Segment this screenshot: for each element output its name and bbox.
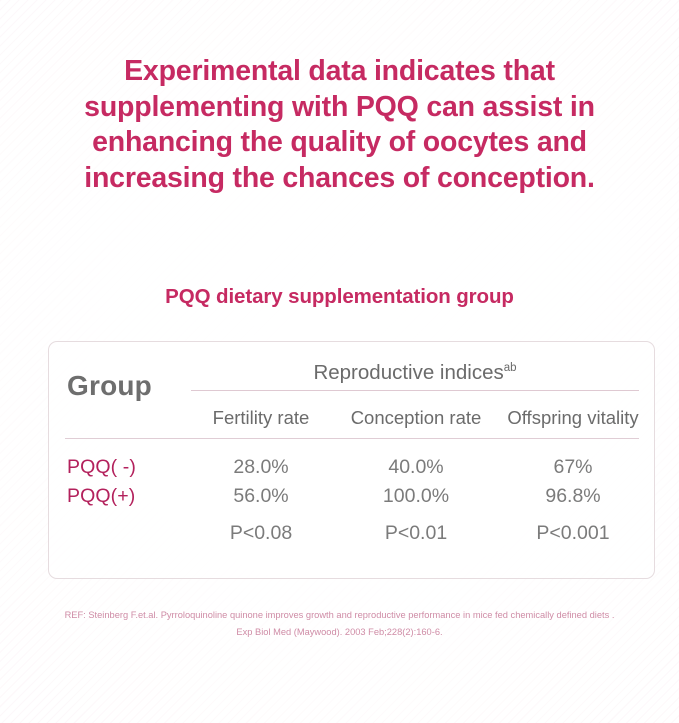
cell-pqq-minus-offspring-vitality: 67% <box>499 456 647 479</box>
spanning-header-text: Reproductive indices <box>313 361 503 384</box>
poster-page: Experimental data indicates that supplem… <box>0 0 679 723</box>
headline-line-1: Experimental data indicates that <box>26 54 653 90</box>
table-group-header: Group <box>67 370 152 402</box>
cell-pqq-minus-conception-rate: 40.0% <box>335 456 497 479</box>
spanning-header-superscript: ab <box>504 362 517 374</box>
cell-pqq-plus-fertility-rate: 56.0% <box>191 485 331 508</box>
cell-pqq-plus-conception-rate: 100.0% <box>335 485 497 508</box>
table-row: PQQ(+) 56.0% 100.0% 96.8% <box>49 485 656 514</box>
subtitle: PQQ dietary supplementation group <box>26 284 653 310</box>
column-header-conception-rate: Conception rate <box>335 407 497 429</box>
reference-line-2: Exp Biol Med (Maywood). 2003 Feb;228(2):… <box>26 624 653 641</box>
table-row-pvalues: P<0.08 P<0.01 P<0.001 <box>49 522 656 551</box>
results-table-card: Group Reproductive indicesab Fertility r… <box>48 341 655 579</box>
column-header-fertility-rate: Fertility rate <box>191 407 331 429</box>
headline-line-4: increasing the chances of conception. <box>26 161 653 197</box>
cell-pvalue-fertility-rate: P<0.08 <box>191 522 331 545</box>
table-spanning-header: Reproductive indicesab <box>191 361 639 385</box>
cell-pvalue-conception-rate: P<0.01 <box>335 522 497 545</box>
table-rule-spanning <box>191 390 639 391</box>
headline: Experimental data indicates that supplem… <box>26 54 653 196</box>
table-rule-header <box>65 438 639 439</box>
headline-line-3: enhancing the quality of oocytes and <box>26 125 653 161</box>
reference-footer: REF: Steinberg F.et.al. Pyrroloquinoline… <box>26 607 653 640</box>
cell-pvalue-offspring-vitality: P<0.001 <box>499 522 647 545</box>
poster-content: Experimental data indicates that supplem… <box>0 0 679 723</box>
cell-pqq-plus-offspring-vitality: 96.8% <box>499 485 647 508</box>
table-row: PQQ( -) 28.0% 40.0% 67% <box>49 456 656 485</box>
row-label-pqq-minus: PQQ( -) <box>67 456 185 479</box>
reference-line-1: REF: Steinberg F.et.al. Pyrroloquinoline… <box>26 607 653 624</box>
headline-line-2: supplementing with PQQ can assist in <box>26 90 653 126</box>
row-label-pqq-plus: PQQ(+) <box>67 485 185 508</box>
column-header-offspring-vitality: Offspring vitality <box>499 407 647 429</box>
cell-pqq-minus-fertility-rate: 28.0% <box>191 456 331 479</box>
